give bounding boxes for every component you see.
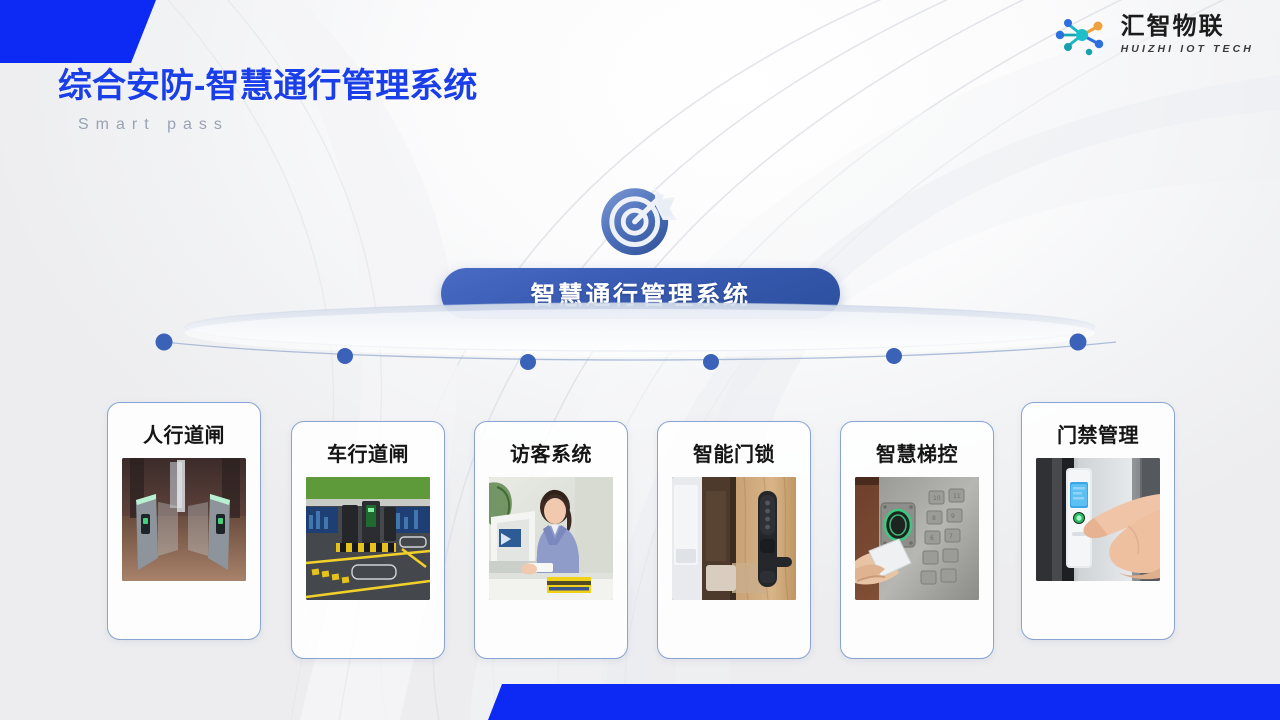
- connector-node: [337, 348, 353, 364]
- card-title: 智慧梯控: [876, 438, 958, 467]
- brand-logo: 汇智物联 HUIZHI IOT TECH: [1053, 12, 1254, 58]
- feature-card-access-control[interactable]: 门禁管理: [1021, 402, 1175, 640]
- card-title: 人行道闸: [143, 419, 225, 448]
- card-title: 门禁管理: [1057, 419, 1139, 448]
- card-title: 访客系统: [510, 438, 592, 467]
- card-title: 车行道闸: [327, 438, 409, 467]
- card-title: 智能门锁: [693, 438, 775, 467]
- connector-nodes: [156, 334, 1087, 371]
- brand-name-cn: 汇智物联: [1121, 15, 1254, 39]
- svg-text:7: 7: [949, 533, 953, 540]
- brand-name-en: HUIZHI IOT TECH: [1121, 44, 1254, 55]
- page-title: 综合安防-智慧通行管理系统: [58, 68, 477, 105]
- connector-node: [703, 354, 719, 370]
- page-subtitle: Smart pass: [78, 116, 477, 134]
- page-header: 综合安防-智慧通行管理系统 Smart pass: [58, 68, 477, 134]
- feature-card-smart-lock[interactable]: 智能门锁: [657, 421, 811, 659]
- connector-node: [156, 334, 173, 351]
- pedestrian-turnstile-photo: [122, 458, 246, 581]
- svg-text:8: 8: [932, 515, 936, 522]
- feature-card-visitor-system[interactable]: 访客系统: [474, 421, 628, 659]
- system-title-label: 智慧通行管理系统: [530, 276, 750, 312]
- target-arrow-icon: [596, 183, 684, 257]
- feature-card-pedestrian-turnstile[interactable]: 人行道闸: [107, 402, 261, 640]
- brand-logo-text: 汇智物联 HUIZHI IOT TECH: [1121, 15, 1254, 55]
- slide-canvas: 综合安防-智慧通行管理系统 Smart pass: [0, 0, 1280, 720]
- system-title-banner[interactable]: 智慧通行管理系统: [441, 268, 840, 319]
- connector-node: [520, 354, 536, 370]
- elevator-card-reader-photo: 1011 89 67: [855, 477, 979, 600]
- vehicle-barrier-gate-photo: [306, 477, 430, 600]
- smart-door-lock-photo: [672, 477, 796, 600]
- connector-node: [1070, 334, 1087, 351]
- molecule-network-icon: [1053, 12, 1113, 58]
- corner-accent-bottom-right: [488, 684, 1280, 720]
- connector-node: [886, 348, 902, 364]
- corner-accent-top-left: [0, 0, 160, 63]
- visitor-reception-photo: [489, 477, 613, 600]
- access-control-terminal-photo: [1036, 458, 1160, 581]
- svg-text:9: 9: [951, 513, 955, 520]
- feature-card-elevator-control[interactable]: 智慧梯控: [840, 421, 994, 659]
- svg-text:10: 10: [933, 495, 941, 502]
- feature-card-vehicle-barrier[interactable]: 车行道闸: [291, 421, 445, 659]
- svg-text:6: 6: [930, 535, 934, 542]
- svg-text:11: 11: [953, 493, 961, 500]
